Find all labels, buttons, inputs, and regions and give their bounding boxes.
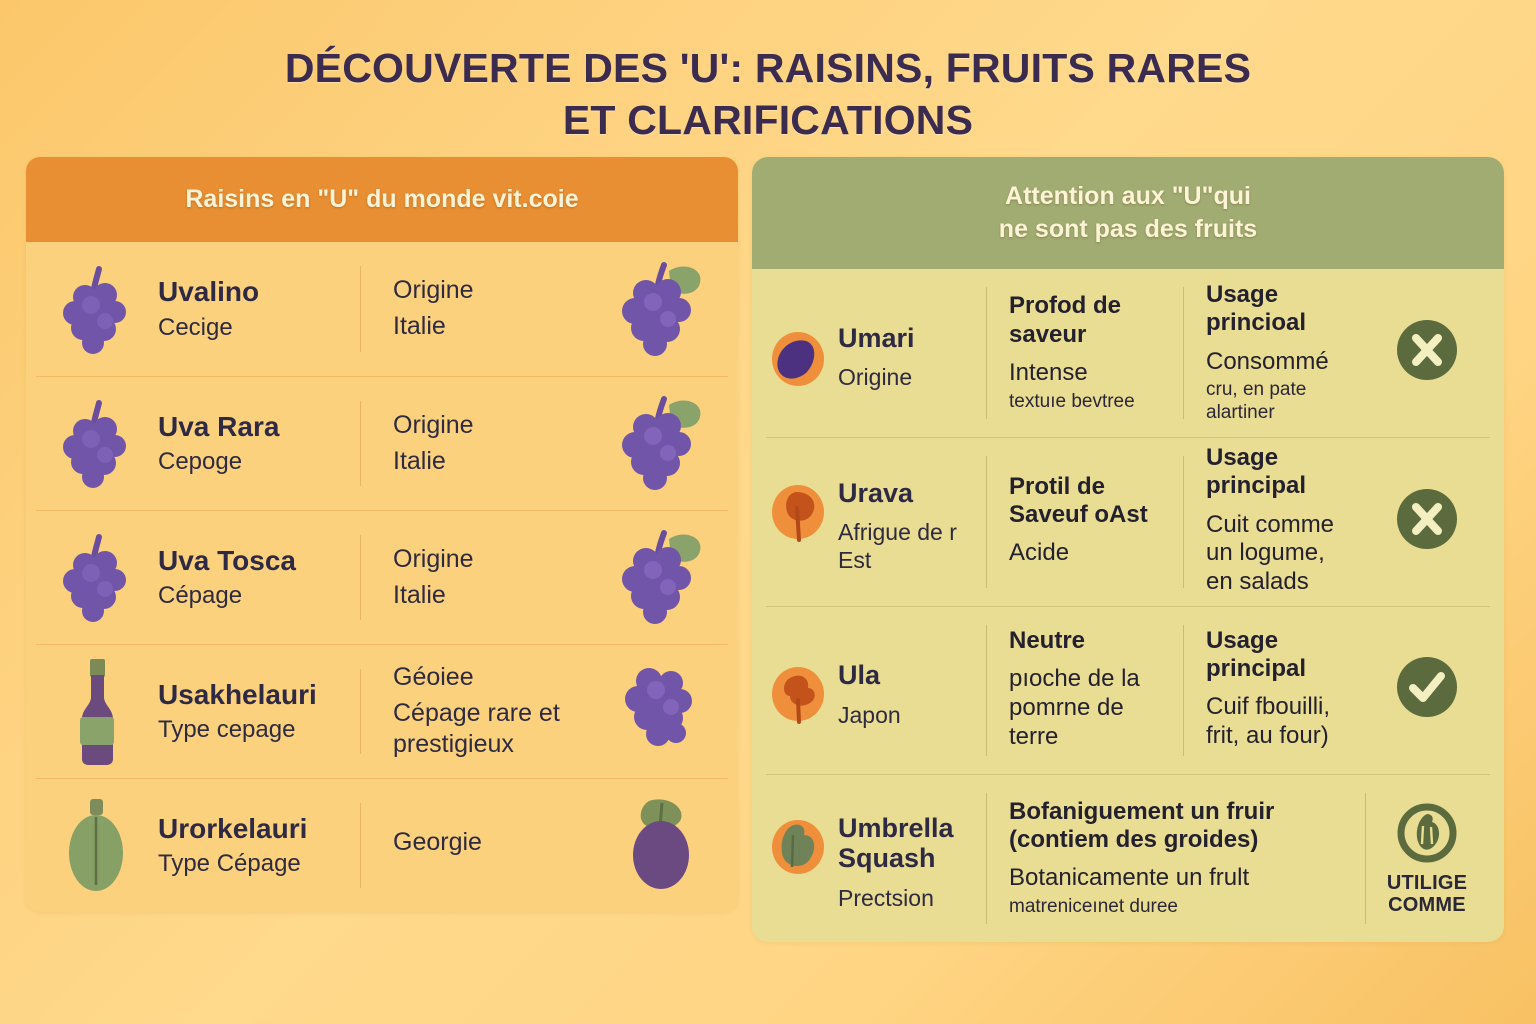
variety-name: Urorkelauri (158, 812, 360, 846)
right-panel: Attention aux "U"qui ne sont pas des fru… (752, 157, 1504, 942)
clarification-value: Botanicamente un frult (1009, 864, 1357, 893)
flavor-cell: Neutre pıoche de la pomrne de terre (987, 627, 1183, 755)
usage-heading: Usage principal (1206, 444, 1358, 501)
item-name: Urava (838, 478, 986, 509)
row-identity-cell: Umari Origine (768, 315, 986, 392)
page-title: DÉCOUVERTE DES 'U': RAISINS, FRUITS RARE… (0, 0, 1536, 157)
flavor-value: pıoche de la pomrne de terre (1009, 665, 1169, 751)
variety-subtitle: Cepoge (158, 447, 360, 477)
flavor-cell: Protil de Saveuf oAst Acide (987, 473, 1183, 571)
usage-value: Cuit comme un logume, en salads (1206, 511, 1358, 597)
flavor-heading: Profod de saveur (1009, 292, 1169, 349)
flavor-heading: Protil de Saveuf oAst (1009, 473, 1169, 530)
row-main-cell: Uva Rara Cepoge (152, 410, 360, 478)
table-row[interactable]: Urava Afrigue de r Est Protil de Saveuf … (766, 437, 1490, 606)
usage-cell: Usage princioal Consommé cru, en pate al… (1184, 281, 1366, 425)
clarification-heading: Bofaniguement un fruir (contiem des groi… (1009, 798, 1357, 855)
flavor-note: textuıe bevtree (1009, 391, 1169, 414)
item-origin: Afrigue de r Est (838, 518, 986, 574)
variety-name: Uvalino (158, 275, 360, 309)
origin-label: Origine (393, 275, 602, 305)
cross-icon (1394, 317, 1460, 383)
origin-label: Georgie (393, 827, 602, 857)
variety-subtitle: Cépage (158, 581, 360, 611)
origin-value: Cépage rare et prestigieux (393, 698, 602, 760)
origin-value: Italie (393, 446, 602, 477)
title-line-2: ET CLARIFICATIONS (70, 94, 1466, 146)
leaf-orange-badge-icon (768, 482, 828, 546)
grape-cluster-image (602, 525, 722, 629)
grape-cluster-icon (42, 531, 152, 623)
variety-name: Usakhelauri (158, 678, 360, 712)
clarification-note: matreniceınet duree (1009, 896, 1357, 919)
usage-value: Cuif fbouilli, frit, au four) (1206, 693, 1358, 751)
clarification-cell: Bofaniguement un fruir (contiem des groi… (987, 798, 1365, 919)
gourd-icon (42, 793, 152, 897)
item-origin: Japon (838, 701, 901, 729)
flavor-heading: Neutre (1009, 627, 1169, 655)
eggplant-image (602, 793, 722, 897)
table-row[interactable]: Uvalino Cecige Origine Italie (36, 242, 728, 376)
item-name: Umbrella Squash (838, 813, 986, 875)
status-cell: UTILIGE COMME (1366, 800, 1488, 917)
grape-cluster-image (602, 391, 722, 495)
variety-subtitle: Type Cépage (158, 849, 360, 879)
variety-subtitle: Cecige (158, 313, 360, 343)
grape-cluster-icon (42, 397, 152, 489)
usage-value: Consommé (1206, 348, 1358, 377)
usage-heading: Usage princioal (1206, 281, 1358, 338)
row-main-cell: Usakhelauri Type cepage (152, 678, 360, 746)
row-second-cell: Origine Italie (361, 544, 602, 611)
item-origin: Origine (838, 363, 915, 391)
row-identity-cell: Umbrella Squash Prectsion (768, 805, 986, 913)
origin-label: Origine (393, 544, 602, 574)
row-second-cell: Origine Italie (361, 410, 602, 477)
row-second-cell: Georgie (361, 827, 602, 863)
title-line-1: DÉCOUVERTE DES 'U': RAISINS, FRUITS RARE… (70, 42, 1466, 94)
table-row[interactable]: Umari Origine Profod de saveur Intense t… (766, 269, 1490, 437)
table-row[interactable]: Ula Japon Neutre pıoche de la pomrne de … (766, 606, 1490, 774)
table-row[interactable]: Umbrella Squash Prectsion Bofaniguement … (766, 774, 1490, 942)
row-main-cell: Uva Tosca Cépage (152, 544, 360, 612)
left-panel-header: Raisins en "U" du monde vit.coie (26, 157, 738, 242)
variety-subtitle: Type cepage (158, 715, 360, 745)
right-panel-header-line-1: Attention aux "U"qui (999, 180, 1257, 213)
usage-heading: Usage principal (1206, 627, 1358, 684)
fruit-purple-badge-icon (768, 327, 828, 391)
row-second-cell: Géoiee Cépage rare et prestigieux (361, 662, 602, 760)
item-name: Umari (838, 323, 915, 354)
flavor-value: Intense (1009, 359, 1169, 388)
tuber-orange-badge-icon (768, 664, 828, 728)
table-row[interactable]: Uva Rara Cepoge Origine Italie (36, 376, 728, 510)
usage-note: cru, en pate alartiner (1206, 379, 1358, 425)
row-main-cell: Uvalino Cecige (152, 275, 360, 343)
grape-cluster-image (602, 257, 722, 361)
status-cell (1366, 486, 1488, 558)
status-label: UTILIGE COMME (1366, 872, 1488, 917)
flavor-cell: Profod de saveur Intense textuıe bevtree (987, 292, 1183, 413)
row-second-cell: Origine Italie (361, 275, 602, 342)
right-panel-header-line-2: ne sont pas des fruits (999, 213, 1257, 246)
left-panel-body: Uvalino Cecige Origine Italie (26, 242, 738, 912)
right-panel-body: Umari Origine Profod de saveur Intense t… (752, 269, 1504, 942)
grape-cluster-icon (42, 263, 152, 355)
squash-green-badge-icon (768, 817, 828, 881)
left-panel: Raisins en "U" du monde vit.coie (26, 157, 738, 912)
check-icon (1394, 654, 1460, 720)
origin-value: Italie (393, 580, 602, 611)
origin-label: Géoiee (393, 662, 602, 692)
left-panel-header-text: Raisins en "U" du monde vit.coie (185, 183, 578, 216)
squash-ring-icon (1394, 800, 1460, 866)
usage-cell: Usage principal Cuit comme un logume, en… (1184, 444, 1366, 600)
right-panel-header: Attention aux "U"qui ne sont pas des fru… (752, 157, 1504, 269)
item-origin: Prectsion (838, 884, 986, 912)
variety-name: Uva Rara (158, 410, 360, 444)
panels-container: Raisins en "U" du monde vit.coie (0, 157, 1536, 987)
item-name: Ula (838, 660, 901, 691)
wine-bottle-icon (42, 655, 152, 767)
usage-cell: Usage principal Cuif fbouilli, frit, au … (1184, 627, 1366, 754)
row-identity-cell: Ula Japon (768, 652, 986, 729)
variety-name: Uva Tosca (158, 544, 360, 578)
table-row[interactable]: Urorkelauri Type Cépage Georgie (36, 778, 728, 912)
row-identity-cell: Urava Afrigue de r Est (768, 470, 986, 575)
origin-value: Italie (393, 311, 602, 342)
table-row[interactable]: Usakhelauri Type cepage Géoiee Cépage ra… (36, 644, 728, 778)
flavor-value: Acide (1009, 539, 1169, 568)
row-main-cell: Urorkelauri Type Cépage (152, 812, 360, 880)
status-cell (1366, 317, 1488, 389)
origin-label: Origine (393, 410, 602, 440)
grape-cluster-image (602, 659, 722, 763)
cross-icon (1394, 486, 1460, 552)
table-row[interactable]: Uva Tosca Cépage Origine Italie (36, 510, 728, 644)
status-cell (1366, 654, 1488, 726)
